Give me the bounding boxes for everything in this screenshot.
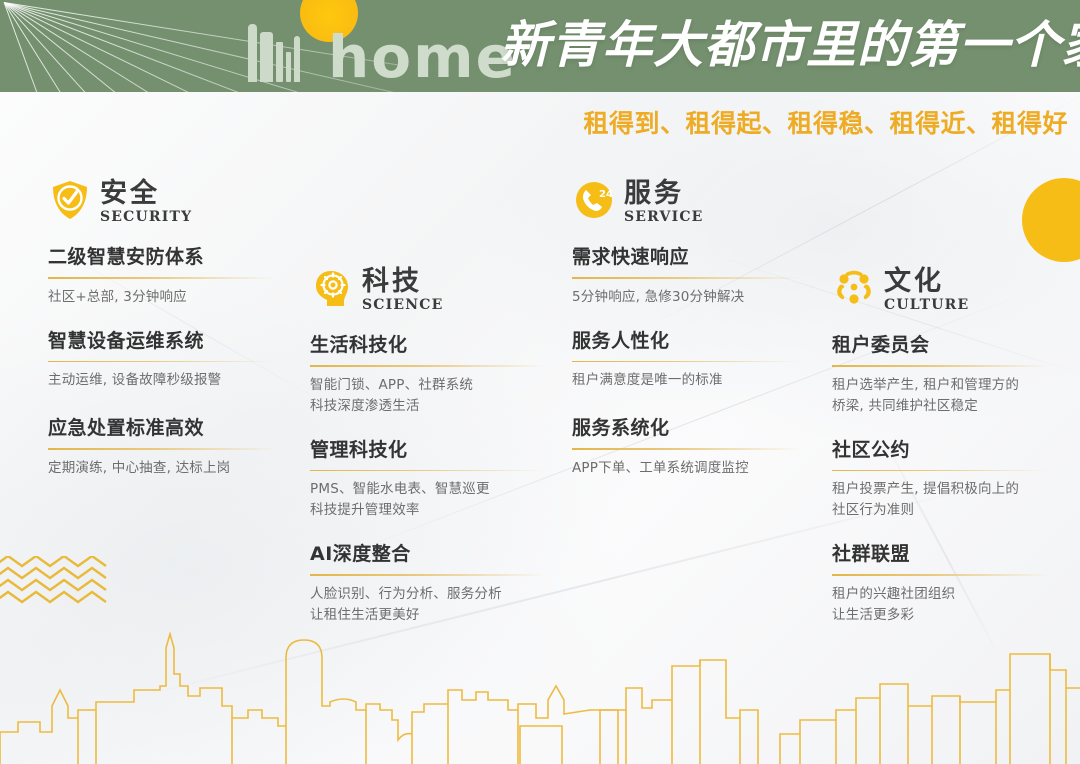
feature-item: 服务系统化 APP下单、工单系统调度监控 [572,415,800,479]
feature-title: 需求快速响应 [572,244,800,270]
feature-item: 需求快速响应 5分钟响应, 急修30分钟解决 [572,244,800,308]
feature-desc: 租户投票产生, 提倡积极向上的 社区行为准则 [832,479,1050,521]
phone-badge-24: 24 [599,189,613,200]
feature-title: 二级智慧安防体系 [48,244,276,270]
feature-item: 社群联盟 租户的兴趣社团组织 让生活更多彩 [832,541,1050,626]
shield-check-icon [48,178,92,222]
column-header: 24 服务 SERVICE [572,178,800,230]
feature-desc: 租户的兴趣社团组织 让生活更多彩 [832,584,1050,626]
phone-24h-icon: 24 [572,178,616,222]
header-headline: 新青年大都市里的第一个家 [500,14,1080,76]
feature-title: 应急处置标准高效 [48,415,276,441]
feature-title: 管理科技化 [310,437,546,463]
feature-item: 生活科技化 智能门锁、APP、社群系统 科技深度渗透生活 [310,332,546,417]
column-header: 安全 SECURITY [48,178,276,230]
feature-item: 服务人性化 租户满意度是唯一的标准 [572,328,800,392]
feature-title: 租户委员会 [832,332,1050,358]
feature-desc: 租户选举产生, 租户和管理方的 桥梁, 共同维护社区稳定 [832,375,1050,417]
feature-title: 服务系统化 [572,415,800,441]
yellow-circle-decoration [1022,178,1080,262]
column-security: 安全 SECURITY 二级智慧安防体系 社区+总部, 3分钟响应 智慧设备运维… [48,178,276,499]
divider [832,470,1050,472]
column-title-en: CULTURE [884,297,969,313]
feature-desc: 定期演练, 中心抽查, 达标上岗 [48,458,276,479]
header-subtitle: 租得到、租得起、租得稳、租得近、租得好 [583,104,1068,140]
feature-item: 二级智慧安防体系 社区+总部, 3分钟响应 [48,244,276,308]
divider [48,361,276,363]
column-science: 科技 SCIENCE 生活科技化 智能门锁、APP、社群系统 科技深度渗透生活 … [310,266,546,646]
feature-item: 管理科技化 PMS、智能水电表、智慧巡更 科技提升管理效率 [310,437,546,522]
people-group-icon [832,266,876,310]
feature-item: 社区公约 租户投票产生, 提倡积极向上的 社区行为准则 [832,437,1050,522]
column-title-cn: 安全 [100,179,192,208]
divider [310,574,546,576]
column-title-cn: 服务 [624,179,704,208]
logo-wordmark: home [328,28,517,86]
poster-canvas: home 新青年大都市里的第一个家 租得到、租得起、租得稳、租得近、租得好 [0,0,1080,764]
feature-desc: 5分钟响应, 急修30分钟解决 [572,287,800,308]
zigzag-pattern-decoration [0,556,108,606]
divider [572,277,800,279]
feature-title: 智慧设备运维系统 [48,328,276,354]
feature-title: AI深度整合 [310,541,546,567]
divider [572,361,800,363]
divider [48,448,276,450]
feature-title: 社群联盟 [832,541,1050,567]
column-title-en: SERVICE [624,209,704,225]
divider [310,470,546,472]
feature-desc: 租户满意度是唯一的标准 [572,370,800,391]
feature-item: 智慧设备运维系统 主动运维, 设备故障秒级报警 [48,328,276,392]
feature-title: 生活科技化 [310,332,546,358]
divider [832,365,1050,367]
feature-item: AI深度整合 人脸识别、行为分析、服务分析 让租住生活更美好 [310,541,546,626]
column-header: 科技 SCIENCE [310,266,546,318]
divider [48,277,276,279]
feature-desc: 人脸识别、行为分析、服务分析 让租住生活更美好 [310,584,546,626]
feature-title: 社区公约 [832,437,1050,463]
divider [832,574,1050,576]
building-bars-icon [248,20,314,82]
feature-desc: PMS、智能水电表、智慧巡更 科技提升管理效率 [310,479,546,521]
column-title-en: SECURITY [100,209,192,225]
brain-gear-icon [310,266,354,310]
feature-desc: 智能门锁、APP、社群系统 科技深度渗透生活 [310,375,546,417]
column-title-cn: 科技 [362,267,443,296]
home-logo: home [248,8,517,88]
column-header: 文化 CULTURE [832,266,1050,318]
feature-desc: 主动运维, 设备故障秒级报警 [48,370,276,391]
feature-desc: APP下单、工单系统调度监控 [572,458,800,479]
divider [572,448,800,450]
feature-desc: 社区+总部, 3分钟响应 [48,287,276,308]
column-title-cn: 文化 [884,267,969,296]
column-title-en: SCIENCE [362,297,443,313]
feature-item: 租户委员会 租户选举产生, 租户和管理方的 桥梁, 共同维护社区稳定 [832,332,1050,417]
feature-title: 服务人性化 [572,328,800,354]
column-culture: 文化 CULTURE 租户委员会 租户选举产生, 租户和管理方的 桥梁, 共同维… [832,266,1050,646]
column-service: 24 服务 SERVICE 需求快速响应 5分钟响应, 急修30分钟解决 服务人… [572,178,800,499]
divider [310,365,546,367]
feature-item: 应急处置标准高效 定期演练, 中心抽查, 达标上岗 [48,415,276,479]
header-banner: home 新青年大都市里的第一个家 [0,0,1080,92]
